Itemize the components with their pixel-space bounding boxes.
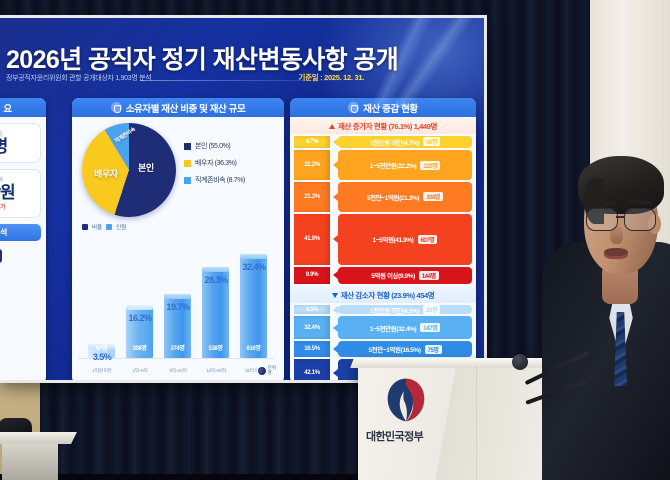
bar-count-label: 67명 (88, 343, 115, 352)
summary-stat-count: 수 명 (0, 123, 41, 163)
podium-seam (476, 366, 477, 480)
arrow-down-icon (332, 293, 338, 298)
panel-change-header: 재산 증감 현황 (290, 98, 476, 117)
korea-government-emblem-icon (384, 376, 428, 424)
arrow-up-icon (329, 124, 335, 129)
legend-swatch-self (184, 143, 191, 150)
funnel-label-text: 1~5천만원(22.2%) (370, 160, 417, 170)
size-distribution-bar-chart: 단위명 67명3.5%1억원 미만308명16.2%1억~5억374명19.7%… (78, 220, 278, 378)
panel-ownership: 소유자별 재산 비중 및 재산 규모 본인 배우자 직계존비속 본인 (55.0… (72, 98, 284, 380)
summary-row-1-text: 상승 등 (0, 266, 41, 275)
funnel-label: 1천만원 미만(4.5%)20명 (338, 305, 472, 314)
funnel-count: 144명 (419, 271, 439, 280)
glasses-bridge (616, 216, 624, 218)
panel-summary: 요 수 명 액 만원 증가 분석 +1억 944만원 상승 등 +3, (0, 98, 46, 380)
decrease-section-title: 재산 감소자 현황 (23.9%) 454명 (290, 286, 476, 303)
funnel-label: 1~5억원(41.9%)607명 (338, 214, 472, 265)
summary-row-2-text: 4.1)등 (0, 300, 41, 309)
funnel-count: 322명 (420, 161, 440, 170)
bar-value-label: 19.7% (151, 302, 205, 312)
eyeglasses (586, 208, 656, 230)
panel-change-title: 재산 증감 현황 (363, 101, 418, 115)
bar-value-label: 32.4% (227, 262, 281, 272)
bar-x-label: 1억원 미만 (82, 368, 122, 374)
panel-ownership-header: 소유자별 재산 비중 및 재산 규모 (72, 98, 284, 117)
bar-x-label: 10억~20억 (196, 368, 236, 374)
bar-value-label: 16.2% (113, 313, 167, 323)
summary-band: 분석 (0, 224, 41, 241)
funnel-count: 20명 (423, 305, 440, 314)
pie-label-spouse: 배우자 (94, 167, 118, 180)
summary-row-1-chip: +1억 944만원 (0, 249, 2, 263)
stat-amount-value: 만원 (0, 184, 36, 202)
bar-x-label: 5억~10억 (158, 368, 198, 374)
funnel-label: 1천만원 미만(4.7%)68명 (338, 136, 472, 148)
bar-count-label: 308명 (126, 343, 153, 352)
funnel-label-text: 1~5천만원(32.4%) (370, 323, 417, 333)
bar-count-label: 374명 (164, 343, 191, 352)
bar-x-label: 20억 이상 (234, 368, 274, 374)
funnel-row: 21.3%5천만~1억원(21.3%)308명 (294, 182, 472, 211)
summary-row-2: +3,926만원 4.1)등 (0, 280, 41, 309)
bar-column: 616명 (240, 257, 267, 358)
funnel-stack-segment: 22.2% (294, 150, 330, 180)
legend-swatch-kin (184, 177, 191, 184)
bar-count-label: 538명 (202, 343, 229, 352)
reference-date: 기준일 : 2025. 12. 31. (299, 72, 364, 83)
legend-label-kin: 직계존비속 (8.7%) (195, 175, 245, 185)
decrease-title-text: 재산 감소자 현황 (23.9%) 454명 (341, 290, 435, 301)
legend-label-spouse: 배우자 (36.3%) (195, 158, 236, 168)
bar-track (88, 240, 115, 358)
podium-caption: 대한민국정부 (366, 428, 423, 444)
funnel-stack-segment: 42.1% (294, 359, 330, 380)
legend-item: 배우자 (36.3%) (184, 158, 245, 168)
bar-x-label: 1억~5억 (120, 368, 160, 374)
funnel-row: 32.4%1~5천만원(32.4%)147명 (294, 316, 472, 339)
funnel-stack-segment: 21.3% (294, 182, 330, 211)
pie-chart-area: 본인 배우자 직계존비속 본인 (55.0%) 배우자 (36.3%) 직계존비… (72, 117, 284, 225)
funnel-count: 68명 (423, 137, 440, 146)
slide-title: 2026년 공직자 정기 재산변동사항 공개 (6, 40, 398, 76)
projection-screen: 2026년 공직자 정기 재산변동사항 공개 정부공직자윤리위원회 관할 공개대… (0, 18, 484, 380)
funnel-label-text: 5억원 이상(9.9%) (371, 270, 415, 280)
funnel-row: 4.5%1천만원 미만(4.5%)20명 (294, 305, 472, 314)
glasses-lens-right (624, 208, 656, 231)
funnel-stack-segment: 32.4% (294, 316, 330, 339)
microphone-head (512, 354, 528, 370)
increase-section-title: 재산 증가자 현황 (76.1%) 1,449명 (290, 117, 476, 134)
funnel-row: 22.2%1~5천만원(22.2%)322명 (294, 150, 472, 180)
legend-item: 직계존비속 (8.7%) (184, 175, 245, 185)
funnel-count: 147명 (420, 323, 440, 332)
slide-subtitle: 정부공직자윤리위원회 관할 공개대상자 1,903명 분석 (6, 73, 151, 83)
funnel-label-text: 1~5억원(41.9%) (373, 234, 414, 244)
increase-title-text: 재산 증가자 현황 (76.1%) 1,449명 (338, 121, 437, 132)
speaker (556, 122, 670, 480)
legend-label-self: 본인 (55.0%) (195, 141, 230, 151)
bar-top-face (202, 267, 229, 272)
funnel-count: 308명 (423, 192, 443, 201)
legend-swatch-spouse (184, 160, 191, 167)
side-table (0, 432, 74, 480)
podium: 대한민국정부 (358, 366, 548, 480)
glasses-lens-left (586, 208, 618, 231)
mouth (604, 248, 628, 259)
bar-top-face (164, 294, 191, 299)
funnel-stack-segment: 4.7% (294, 136, 330, 148)
funnel-row: 16.5%5천만~1억원(16.5%)75명 (294, 341, 472, 356)
pie-label-self: 본인 (138, 161, 154, 174)
panel-change: 재산 증감 현황 재산 증가자 현황 (76.1%) 1,449명 4.7%1천… (290, 98, 476, 380)
funnel-label: 1~5천만원(32.4%)147명 (338, 316, 472, 339)
updown-arrow-icon (348, 102, 359, 113)
panel-summary-header: 요 (0, 98, 46, 117)
funnel-row: 4.7%1천만원 미만(4.7%)68명 (294, 136, 472, 148)
funnel-label-text: 1천만원 미만(4.5%) (370, 305, 419, 315)
funnel-stack-segment: 9.9% (294, 267, 330, 284)
pie-legend: 본인 (55.0%) 배우자 (36.3%) 직계존비속 (8.7%) (184, 141, 245, 192)
bar-top-face (240, 254, 267, 259)
bar-top-face (126, 305, 153, 310)
summary-row-1: +1억 944만원 상승 등 (0, 246, 41, 275)
funnel-label-text: 5천만~1억원(16.5%) (368, 344, 420, 354)
stat-count-value: 명 (0, 138, 36, 156)
bar-value-label: 28.3% (189, 275, 243, 285)
panel-summary-title: 요 (3, 101, 11, 115)
funnel-row: 9.9%5억원 이상(9.9%)144명 (294, 267, 472, 284)
table-body (2, 443, 58, 480)
bar-value-label: 3.5% (75, 352, 129, 362)
funnel-label-text: 5천만~1억원(21.3%) (367, 192, 419, 202)
increase-funnel: 4.7%1천만원 미만(4.7%)68명22.2%1~5천만원(22.2%)32… (290, 134, 476, 284)
funnel-label: 5억원 이상(9.9%)144명 (338, 267, 472, 284)
funnel-stack-segment: 16.5% (294, 341, 330, 356)
funnel-count: 75명 (425, 345, 442, 354)
summary-stat-amount: 액 만원 증가 (0, 169, 41, 218)
stat-amount-note: 증가 (0, 202, 36, 211)
funnel-label: 1~5천만원(22.2%)322명 (338, 150, 472, 180)
funnel-stack-segment: 4.5% (294, 305, 330, 314)
funnel-stack-segment: 41.9% (294, 214, 330, 265)
funnel-row: 41.9%1~5억원(41.9%)607명 (294, 214, 472, 265)
funnel-label: 5천만~1억원(16.5%)75명 (338, 341, 472, 356)
funnel-label: 5천만~1억원(21.3%)308명 (338, 182, 472, 211)
legend-item: 본인 (55.0%) (184, 141, 245, 151)
shield-icon (111, 102, 122, 113)
funnel-count: 607명 (418, 235, 438, 244)
panel-ownership-title: 소유자별 재산 비중 및 재산 규모 (126, 101, 246, 115)
funnel-label-text: 1천만원 미만(4.7%) (370, 137, 419, 147)
bar-count-label: 616명 (240, 343, 267, 352)
press-briefing-photo: 2026년 공직자 정기 재산변동사항 공개 정부공직자윤리위원회 관할 공개대… (0, 0, 670, 480)
